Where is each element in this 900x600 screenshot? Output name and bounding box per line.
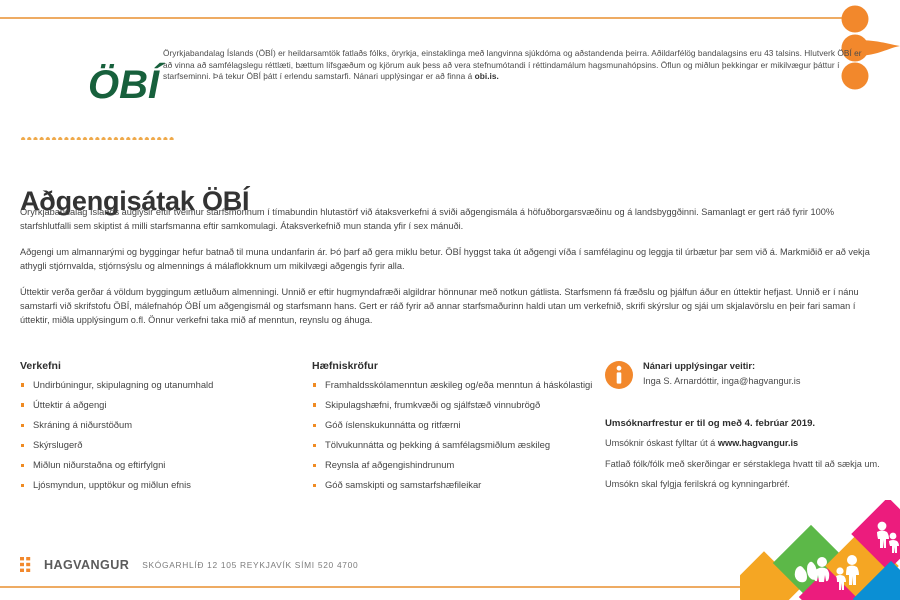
list-item: Skipulagshæfni, frumkvæði og sjálfstæð v… xyxy=(312,399,602,412)
tasks-list: Undirbúningur, skipulagning og utanumhal… xyxy=(20,379,305,492)
requirements-heading: Hæfniskröfur xyxy=(312,360,602,372)
contact-person: Inga S. Arnardóttir, inga@hagvangur.is xyxy=(643,376,885,386)
org-intro-text: Öryrkjabandalag Íslands (ÖBÍ) er heildar… xyxy=(163,48,863,83)
list-item: Góð samskipti og samstarfshæfileikar xyxy=(312,479,602,492)
list-item: Skráning á niðurstöðum xyxy=(20,419,305,432)
footer-address: SKÓGARHLÍÐ 12 105 REYKJAVÍK SÍMI 520 470… xyxy=(142,560,358,570)
footer: HAGVANGUR SKÓGARHLÍÐ 12 105 REYKJAVÍK SÍ… xyxy=(20,557,358,572)
paragraph: Öryrkjabandalag Íslands auglýsir eftir t… xyxy=(20,206,878,233)
contact-column: Nánari upplýsingar veitir: Inga S. Arnar… xyxy=(605,360,885,499)
info-icon xyxy=(605,361,633,389)
paragraph: Úttektir verða gerðar á völdum byggingum… xyxy=(20,286,878,327)
tasks-column: Verkefni Undirbúningur, skipulagning og … xyxy=(20,360,305,500)
requirements-column: Hæfniskröfur Framhaldsskólamenntun æskil… xyxy=(312,360,602,500)
contact-title: Nánari upplýsingar veitir: xyxy=(643,361,885,371)
dotted-divider xyxy=(20,136,175,140)
apply-line: Umsóknir óskast fylltar út á www.hagvang… xyxy=(605,437,885,450)
requirements-list: Framhaldsskólamenntun æskileg og/eða men… xyxy=(312,379,602,492)
list-item: Góð íslenskukunnátta og ritfærni xyxy=(312,419,602,432)
top-divider-rule xyxy=(0,17,862,19)
apply-note: Fatlað fólk/fólk með skerðingar er sérst… xyxy=(605,458,885,471)
list-item: Ljósmyndun, upptökur og miðlun efnis xyxy=(20,479,305,492)
tasks-heading: Verkefni xyxy=(20,360,305,372)
application-deadline: Umsóknarfrestur er til og með 4. febrúar… xyxy=(605,418,885,429)
accessibility-diamonds-decoration xyxy=(740,500,900,600)
list-item: Skýrslugerð xyxy=(20,439,305,452)
apply-block: Umsóknarfrestur er til og með 4. febrúar… xyxy=(605,418,885,491)
body-paragraphs: Öryrkjabandalag Íslands auglýsir eftir t… xyxy=(20,206,878,340)
svg-text:ÖBÍ: ÖBÍ xyxy=(88,62,165,107)
org-intro-link[interactable]: obi.is. xyxy=(475,71,499,81)
obi-logo: ÖBÍ xyxy=(28,36,170,128)
list-item: Tölvukunnátta og þekking á samfélagsmiðl… xyxy=(312,439,602,452)
org-intro-body: Öryrkjabandalag Íslands (ÖBÍ) er heildar… xyxy=(163,48,862,81)
apply-link[interactable]: www.hagvangur.is xyxy=(718,438,798,448)
apply-prefix: Umsóknir óskast fylltar út á xyxy=(605,438,718,448)
header: ÖBÍ Öryrkjabandalag Íslands (ÖBÍ) er hei… xyxy=(0,30,900,130)
contact-block: Nánari upplýsingar veitir: Inga S. Arnar… xyxy=(605,361,885,395)
list-item: Miðlun niðurstaðna og eftirfylgni xyxy=(20,459,305,472)
list-item: Úttektir á aðgengi xyxy=(20,399,305,412)
hagvangur-wordmark: HAGVANGUR xyxy=(44,558,129,572)
list-item: Framhaldsskólamenntun æskileg og/eða men… xyxy=(312,379,602,392)
list-item: Reynsla af aðgengishindrunum xyxy=(312,459,602,472)
hagvangur-dots-mark-icon xyxy=(20,557,37,572)
list-item: Undirbúningur, skipulagning og utanumhal… xyxy=(20,379,305,392)
paragraph: Aðgengi um almannarými og byggingar hefu… xyxy=(20,246,878,273)
apply-note-2: Umsókn skal fylgja ferilskrá og kynninga… xyxy=(605,478,885,491)
poster-page: ÖBÍ Öryrkjabandalag Íslands (ÖBÍ) er hei… xyxy=(0,0,900,600)
